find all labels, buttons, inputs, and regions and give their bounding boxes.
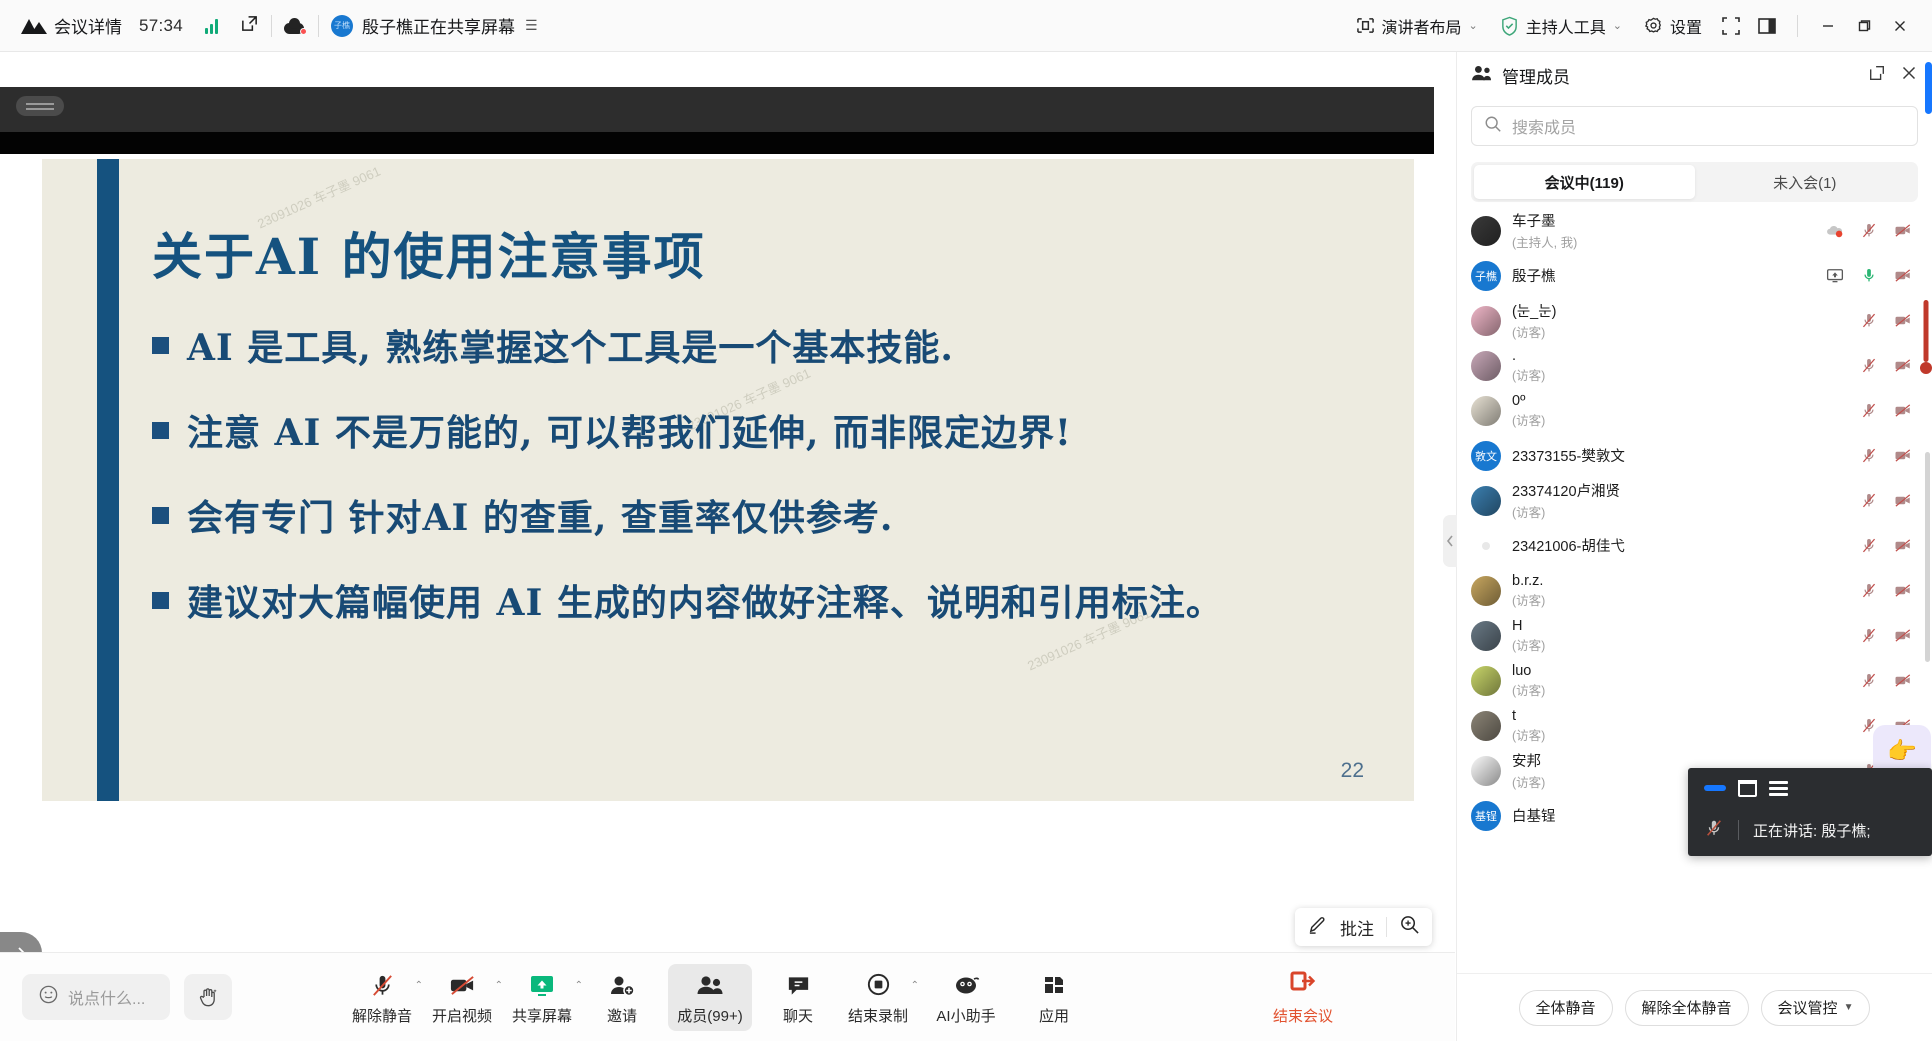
camera-off-icon[interactable] [1894,402,1912,420]
more-lines-icon[interactable]: ☰ [525,17,538,34]
participants-icon [695,971,725,1001]
slide-page-number: 22 [1341,759,1364,783]
participant-row[interactable]: luo(访客) [1457,658,1932,703]
avatar [1471,666,1501,696]
mic-muted-icon[interactable] [1860,222,1878,240]
participant-status-icons [1860,357,1918,375]
bullet-square-icon [152,422,169,439]
meeting-tools: 解除静音 ⌃ 开启视频 ⌃ 共享屏幕 ⌃ [342,964,1094,1031]
host-tools-button[interactable]: 主持人工具 ⌄ [1489,8,1633,44]
participant-row[interactable]: 23374120卢湘贤(访客) [1457,478,1932,523]
meeting-details-button[interactable]: 会议详情 [14,8,129,44]
tool-share-screen[interactable]: 共享屏幕 ⌃ [508,964,576,1031]
participant-status-icons [1860,672,1918,690]
camera-off-icon[interactable] [1894,447,1912,465]
participant-row[interactable]: 23421006-胡佳弋 [1457,523,1932,568]
participant-role: (访客) [1512,772,1545,791]
presentation-slide: 23091026 车子墨 9061 23091026 车子墨 9061 2309… [42,159,1414,801]
end-meeting-label: 结束会议 [1273,1005,1333,1026]
participant-name-block: 殷子樵 [1512,265,1556,286]
tool-label: 解除静音 [352,1005,412,1026]
slide-bullet-item: 建议对大篇幅使用 AI 生成的内容做好注释、说明和引用标注。 [152,578,1394,629]
participant-role: (访客) [1512,680,1545,699]
zoom-in-icon[interactable] [1399,914,1420,940]
participant-name: 0º [1512,393,1545,409]
mic-muted-icon[interactable] [1860,672,1878,690]
participant-row[interactable]: 0º(访客) [1457,388,1932,433]
participant-role: (访客) [1512,322,1556,341]
layout-label: 演讲者布局 [1382,14,1462,38]
pointing-hand-emoji: 👉 [1887,737,1917,766]
layout-button[interactable]: 演讲者布局 ⌄ [1345,8,1489,44]
chat-input-placeholder: 说点什么... [68,985,145,1009]
bullet-square-icon [152,592,169,609]
participant-name-block: 23373155-樊敦文 [1512,445,1625,466]
participant-name-block: 0º(访客) [1512,393,1545,429]
panel-header: 管理成员 [1457,52,1932,98]
camera-off-icon[interactable] [1894,267,1912,285]
tool-label: 成员(99+) [677,1005,742,1026]
shared-window-chrome [0,87,1434,132]
cloud-record-icon[interactable] [1826,222,1844,240]
tool-label: 应用 [1039,1005,1069,1026]
participant-name: 23374120卢湘贤 [1512,480,1620,501]
popout-panel-icon[interactable] [1868,64,1886,87]
tool-label: 邀请 [607,1005,637,1026]
panel-footer: 全体静音 解除全体静音 会议管控 ▼ [1457,973,1932,1041]
participant-name: (눈_눈) [1512,300,1556,321]
tool-invite[interactable]: 邀请 [588,964,656,1031]
end-meeting-button[interactable]: 结束会议 [1255,953,1351,1041]
mic-muted-icon [1704,818,1724,843]
participant-status-icons [1860,627,1918,645]
meeting-control-label: 会议管控 [1778,997,1838,1018]
participant-name: . [1512,348,1545,364]
participant-name: luo [1512,663,1545,679]
tool-start-video[interactable]: 开启视频 ⌃ [428,964,496,1031]
tab-in-meeting[interactable]: 会议中(119) [1474,165,1695,199]
panel-collapse-handle[interactable] [1443,515,1457,567]
slide-bullet-item: AI 是工具, 熟练掌握这个工具是一个基本技能. [152,323,1394,374]
annotation-toolbar: 批注 [1295,908,1432,946]
participant-name-block: 安邦(访客) [1512,750,1545,791]
avatar [1482,542,1490,550]
chat-bubble-icon [785,971,812,1001]
mic-muted-icon[interactable] [1860,537,1878,555]
close-icon[interactable] [1882,8,1918,44]
camera-off-icon[interactable] [1894,492,1912,510]
participant-name: b.r.z. [1512,573,1545,589]
camera-off-icon [448,971,477,1001]
chevron-down-icon: ⌄ [1469,19,1478,32]
people-icon [1471,64,1493,87]
participant-status-icons [1826,267,1918,285]
tool-label: 开启视频 [432,1005,492,1026]
bullet-text: 注意 AI 不是万能的, 可以帮我们延伸, 而非限定边界! [187,408,1072,459]
participant-name: 安邦 [1512,750,1545,771]
pen-icon[interactable] [1307,914,1328,940]
avatar [1471,351,1501,381]
shared-window-chrome-dark [0,132,1434,154]
annotate-label[interactable]: 批注 [1340,915,1374,940]
avatar: 基锃 [1471,801,1501,831]
tool-label: AI小助手 [936,1005,995,1026]
exit-door-icon [1289,969,1317,1000]
chevron-up-icon[interactable]: ⌃ [495,980,503,991]
panel-title: 管理成员 [1502,63,1570,88]
window-icon[interactable] [1738,780,1757,797]
layout-icon [1356,17,1375,34]
search-input[interactable]: 搜索成员 [1471,106,1918,146]
participant-status-icons [1860,402,1918,420]
unmute-all-label: 解除全体静音 [1642,997,1732,1018]
mic-muted-icon [369,971,396,1001]
sharer-avatar: 子樵 [331,15,353,37]
shared-screen-stage: 23091026 车子墨 9061 23091026 车子墨 9061 2309… [0,52,1455,952]
participant-row[interactable]: .(访客) [1457,343,1932,388]
tool-ai-assistant[interactable]: AI小助手 [924,964,1008,1031]
slide-bullet-item: 会有专门 针对AI 的查重, 查重率仅供参考. [152,493,1394,544]
chevron-left-icon [1446,535,1454,547]
record-stop-icon [865,971,892,1001]
participant-role: (访客) [1512,410,1545,429]
participants-list: 车子墨(主持人, 我)子樵殷子樵(눈_눈)(访客).(访客)0º(访客)敦文23… [1457,202,1932,973]
participant-role: (访客) [1512,365,1545,384]
avatar [1471,711,1501,741]
settings-button[interactable]: 设置 [1633,8,1713,44]
unmute-all-button[interactable]: 解除全体静音 [1625,990,1749,1026]
participant-status-icons [1860,492,1918,510]
sharing-notice: 殷子樵正在共享屏幕 [362,13,515,38]
participant-status-icons [1860,582,1918,600]
participant-name-block: luo(访客) [1512,663,1545,699]
participant-row[interactable]: b.r.z.(访客) [1457,568,1932,613]
close-icon[interactable] [1900,64,1918,87]
chevron-down-icon: ▼ [1844,1002,1854,1013]
bullet-text: 建议对大篇幅使用 AI 生成的内容做好注释、说明和引用标注。 [187,578,1223,629]
mic-muted-icon[interactable] [1860,492,1878,510]
participant-name: 23421006-胡佳弋 [1512,535,1625,556]
shield-check-icon [1500,16,1519,36]
tool-unmute[interactable]: 解除静音 ⌃ [348,964,416,1031]
camera-off-icon[interactable] [1894,627,1912,645]
camera-off-icon[interactable] [1894,582,1912,600]
participant-name: 白基锃 [1512,805,1556,826]
camera-off-icon[interactable] [1894,357,1912,375]
settings-label: 设置 [1670,14,1702,38]
avatar: 敦文 [1471,441,1501,471]
avatar [1471,306,1501,336]
participant-name-block: 白基锃 [1512,805,1556,826]
search-placeholder: 搜索成员 [1512,114,1576,138]
ai-assistant-icon [952,971,980,1001]
participant-name: 23373155-樊敦文 [1512,445,1625,466]
meeting-timer: 57:34 [139,16,183,36]
mic-muted-icon[interactable] [1860,627,1878,645]
tool-chat[interactable]: 聊天 [764,964,832,1031]
avatar [1471,486,1501,516]
participants-panel: 管理成员 搜索成员 会议中(119) 未入会(1) 车子墨(主持人, 我)子樵殷… [1456,52,1932,1041]
bottom-toolbar: 说点什么... 解除静音 ⌃ 开启视频 ⌃ [0,952,1455,1041]
mic-on-icon[interactable] [1860,267,1878,285]
top-bar: 会议详情 57:34 子樵 殷子樵正在共享屏幕 ☰ 演讲者布局 ⌄ 主持人工具 [0,0,1932,52]
cloud-recording-icon[interactable] [284,18,306,34]
speaking-overlay: 正在讲话: 殷子樵; [1688,768,1932,856]
maximize-icon[interactable] [1846,8,1882,44]
meeting-details-label: 会议详情 [54,13,122,38]
tool-label: 聊天 [783,1005,813,1026]
toolbar-divider [1386,917,1387,937]
side-panel-icon[interactable] [1749,8,1785,44]
mute-all-label: 全体静音 [1536,997,1596,1018]
host-tools-label: 主持人工具 [1526,14,1606,38]
participant-name-block: (눈_눈)(访客) [1512,300,1556,341]
chevron-down-icon: ⌄ [1613,19,1622,32]
bullet-text: 会有专门 针对AI 的查重, 查重率仅供参考. [187,493,893,544]
participant-status-icons [1826,222,1918,240]
shared-window-pill [16,96,64,116]
participant-name: 殷子樵 [1512,265,1556,286]
panel-scroll-top[interactable] [1925,62,1932,114]
participant-row[interactable]: t(访客) [1457,703,1932,748]
slide-bullet-item: 注意 AI 不是万能的, 可以帮我们延伸, 而非限定边界! [152,408,1394,459]
mic-muted-icon[interactable] [1860,312,1878,330]
chevron-up-icon[interactable]: ⌃ [415,980,423,991]
mic-muted-icon[interactable] [1860,357,1878,375]
tool-label: 结束录制 [848,1005,908,1026]
participant-role: (访客) [1512,635,1545,654]
search-icon [1484,115,1502,138]
raise-hand-icon [196,985,220,1009]
scroll-indicator-icon [1920,300,1932,380]
tool-label: 共享屏幕 [512,1005,572,1026]
share-screen-icon [528,971,556,1001]
camera-off-icon[interactable] [1894,672,1912,690]
participant-name-block: 23421006-胡佳弋 [1512,535,1625,556]
participant-role: (主持人, 我) [1512,232,1577,251]
hamburger-icon[interactable] [1769,781,1788,796]
panel-tabs: 会议中(119) 未入会(1) [1471,162,1918,202]
screen-share-icon[interactable] [1826,267,1844,285]
speaking-text: 正在讲话: 殷子樵; [1753,820,1871,841]
bullet-square-icon [152,337,169,354]
avatar: 子樵 [1471,261,1501,291]
gear-icon [1644,16,1663,35]
participant-name-block: 23374120卢湘贤(访客) [1512,480,1620,521]
panel-scrollbar[interactable] [1925,452,1930,662]
fullscreen-icon[interactable] [1713,8,1749,44]
avatar [1471,576,1501,606]
participant-name: H [1512,618,1545,634]
camera-off-icon[interactable] [1894,222,1912,240]
minimize-icon[interactable] [1810,8,1846,44]
chevron-up-icon[interactable]: ⌃ [575,980,583,991]
chat-input[interactable]: 说点什么... [22,974,170,1020]
camera-off-icon[interactable] [1894,312,1912,330]
participant-name-block: .(访客) [1512,348,1545,384]
avatar [1471,621,1501,651]
participant-name-block: t(访客) [1512,708,1545,744]
avatar [1471,756,1501,786]
camera-off-icon[interactable] [1894,537,1912,555]
tool-participants[interactable]: 成员(99+) [668,964,752,1031]
participant-row[interactable]: 子樵殷子樵 [1457,253,1932,298]
tool-stop-recording[interactable]: 结束录制 ⌃ [844,964,912,1031]
smiley-icon[interactable] [38,984,59,1010]
slide-title: 关于AI 的使用注意事项 [152,217,1394,289]
signal-bars-icon[interactable] [205,18,218,34]
mic-muted-icon[interactable] [1860,402,1878,420]
add-person-icon [608,971,636,1001]
popout-window-icon[interactable] [240,14,259,38]
slide-accent-bar [97,159,119,801]
participant-row[interactable]: 敦文23373155-樊敦文 [1457,433,1932,478]
mute-all-button[interactable]: 全体静音 [1519,990,1613,1026]
slide-bullets: AI 是工具, 熟练掌握这个工具是一个基本技能. 注意 AI 不是万能的, 可以… [152,323,1394,629]
participant-row[interactable]: H(访客) [1457,613,1932,658]
raise-hand-button[interactable] [184,974,232,1020]
tab-not-joined[interactable]: 未入会(1) [1695,165,1916,199]
mic-muted-icon[interactable] [1860,582,1878,600]
participant-name-block: 车子墨(主持人, 我) [1512,210,1577,251]
apps-grid-icon [1041,971,1067,1001]
participant-name-block: b.r.z.(访客) [1512,573,1545,609]
mountain-logo-icon [21,18,47,34]
participant-name-block: H(访客) [1512,618,1545,654]
tool-apps[interactable]: 应用 [1020,964,1088,1031]
minimize-icon[interactable] [1704,785,1726,791]
participant-role: (访客) [1512,725,1545,744]
participant-status-icons [1860,447,1918,465]
participant-name: t [1512,708,1545,724]
chevron-up-icon[interactable]: ⌃ [911,980,919,991]
mic-muted-icon[interactable] [1860,447,1878,465]
participant-row[interactable]: (눈_눈)(访客) [1457,298,1932,343]
bullet-square-icon [152,507,169,524]
avatar [1471,396,1501,426]
meeting-control-button[interactable]: 会议管控 ▼ [1761,990,1871,1026]
bullet-text: AI 是工具, 熟练掌握这个工具是一个基本技能. [187,323,954,374]
participant-role: (访客) [1512,502,1620,521]
participant-row[interactable]: 车子墨(主持人, 我) [1457,208,1932,253]
participant-name: 车子墨 [1512,210,1577,231]
participant-status-icons [1860,537,1918,555]
participant-role: (访客) [1512,590,1545,609]
avatar [1471,216,1501,246]
participant-status-icons [1860,312,1918,330]
